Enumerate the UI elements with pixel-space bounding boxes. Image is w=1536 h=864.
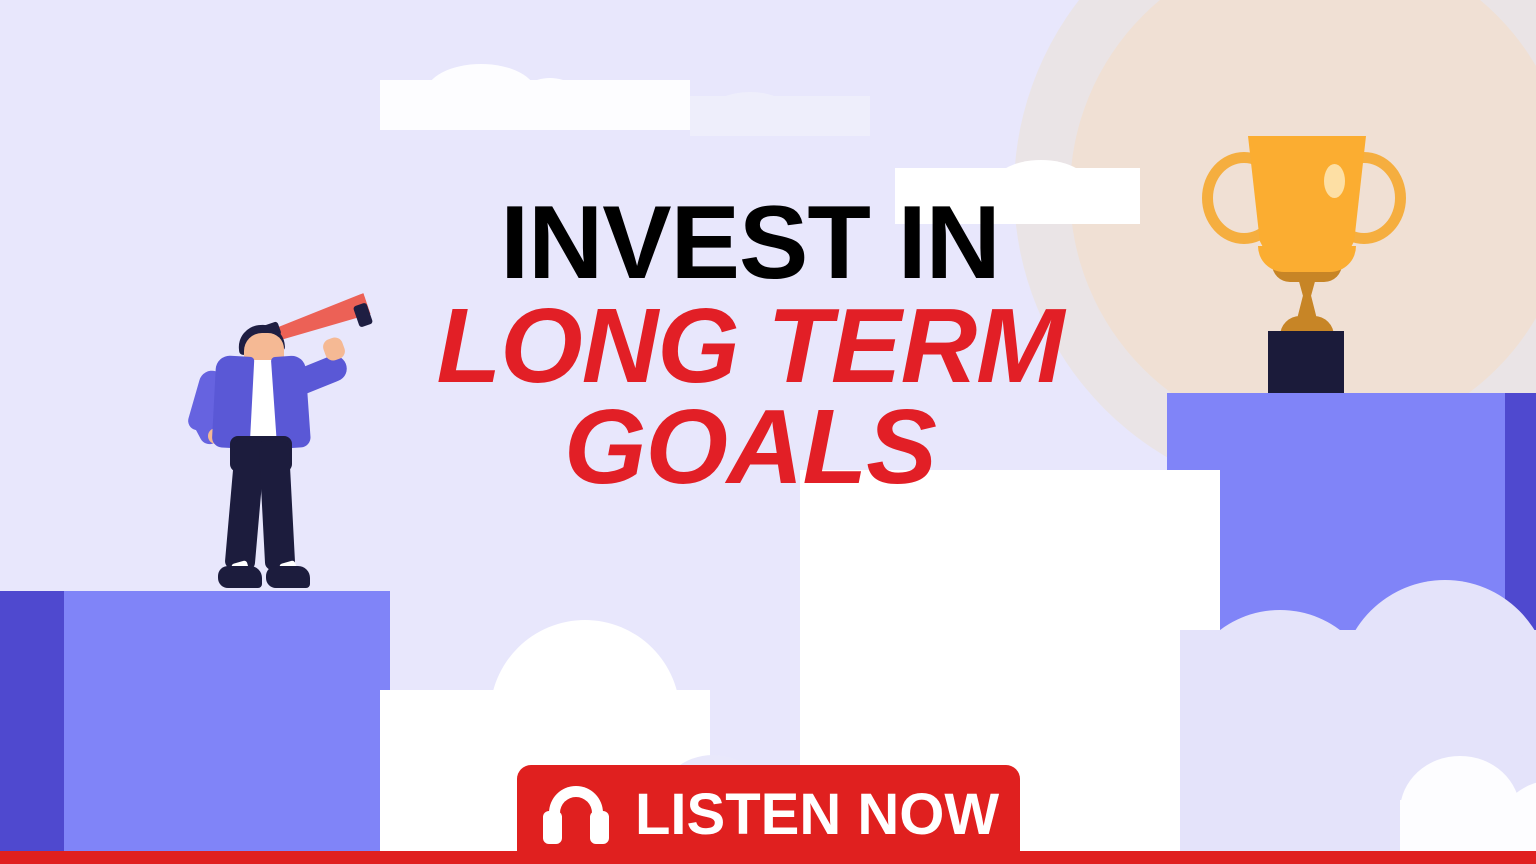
person-jacket-left bbox=[212, 355, 255, 449]
cloud-top-left bbox=[380, 80, 690, 130]
listen-now-button[interactable]: LISTEN NOW bbox=[517, 765, 1020, 864]
trophy-shine bbox=[1324, 164, 1345, 198]
listen-now-label: LISTEN NOW bbox=[635, 781, 999, 848]
headline-line-1: INVEST IN bbox=[330, 196, 1170, 292]
bottom-accent-bar bbox=[0, 851, 1536, 864]
headline-line-2: LONG TERM bbox=[330, 298, 1170, 396]
left-platform-top bbox=[64, 591, 390, 852]
person-right-shoe bbox=[266, 566, 310, 588]
banner-canvas: INVEST IN LONG TERM GOALS LISTEN NOW bbox=[0, 0, 1536, 864]
headphones-icon bbox=[543, 786, 609, 844]
trophy-base bbox=[1268, 331, 1344, 393]
trophy-cup bbox=[1248, 136, 1366, 264]
gold-trophy-icon bbox=[1196, 116, 1412, 396]
headline-line-3: GOALS bbox=[330, 399, 1170, 497]
trophy-cup-bottom bbox=[1258, 246, 1356, 272]
headline: INVEST IN LONG TERM GOALS bbox=[330, 196, 1170, 497]
left-platform-side bbox=[0, 591, 66, 852]
cloud-faint bbox=[690, 96, 870, 136]
person-left-shoe bbox=[218, 566, 262, 588]
